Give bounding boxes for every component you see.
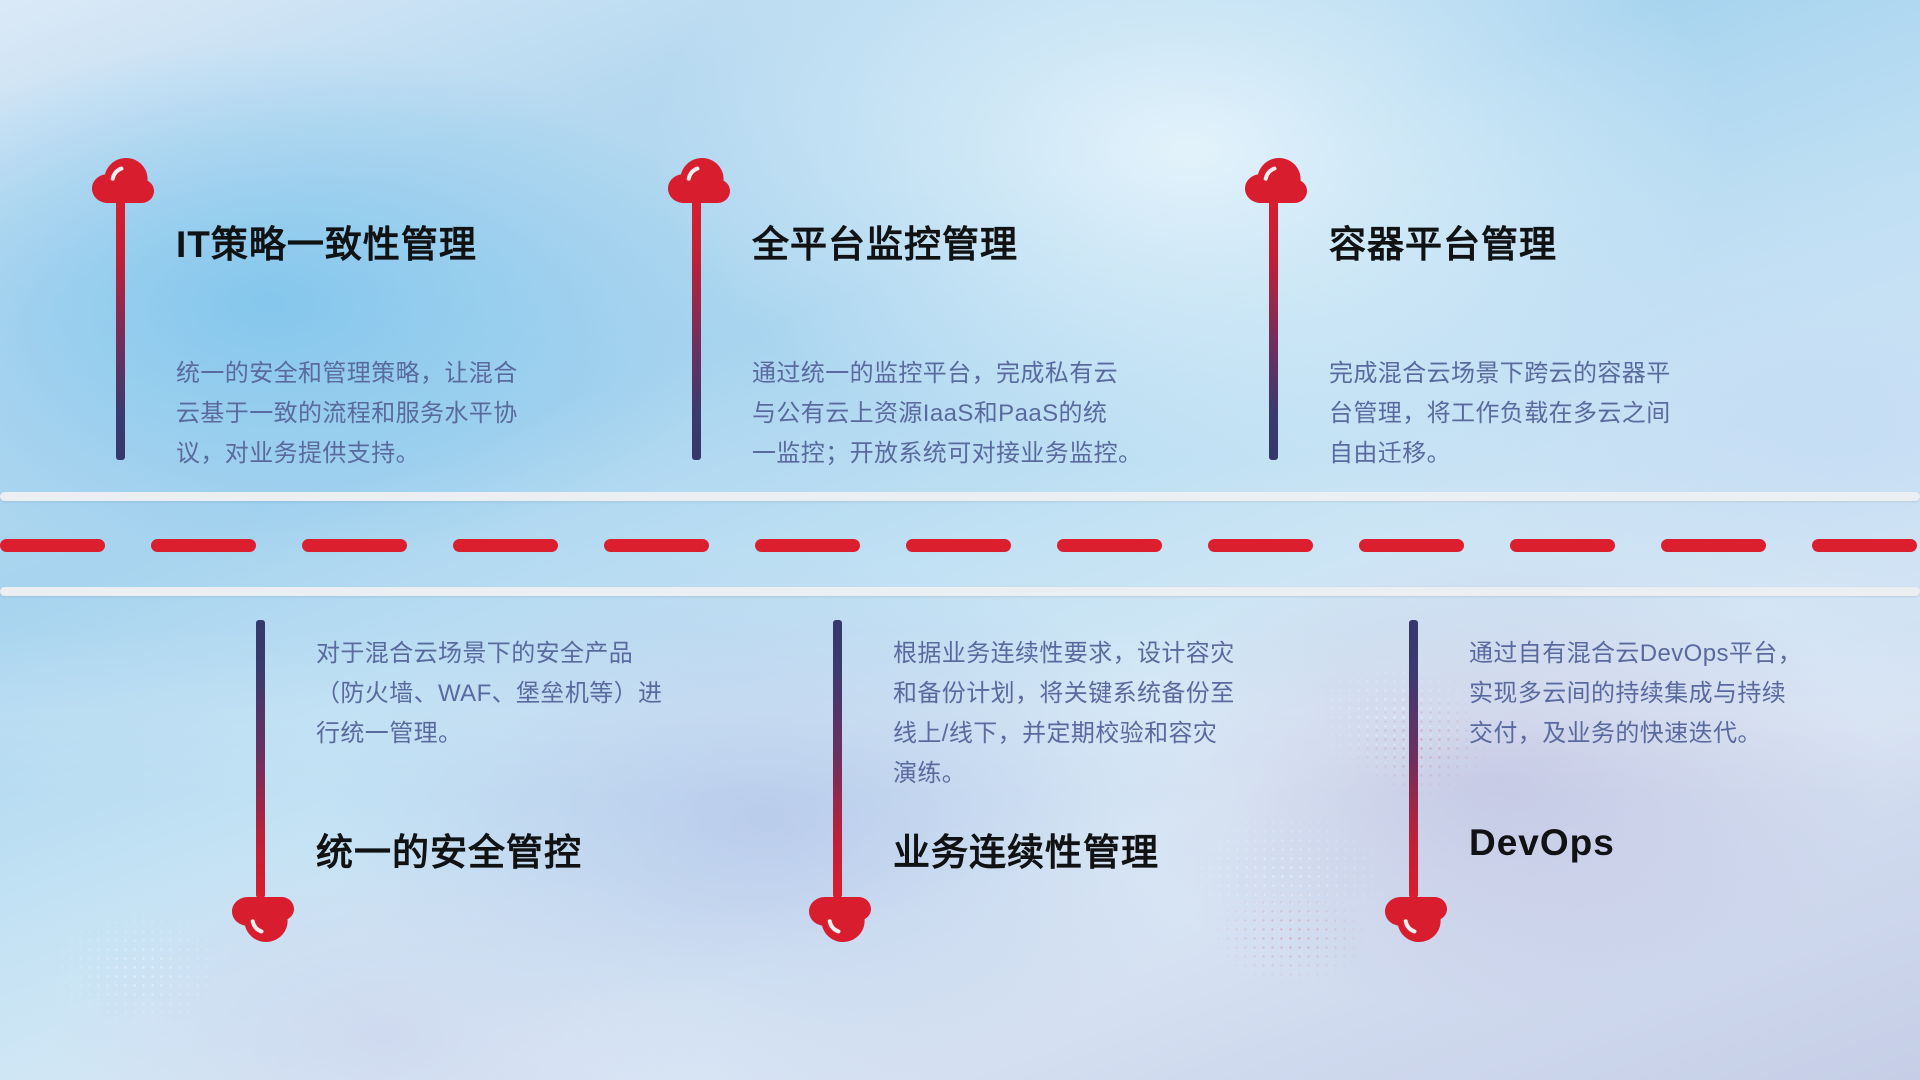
stem-connector [256, 620, 265, 898]
stem-connector [692, 200, 701, 460]
road-dash [1359, 539, 1464, 552]
stem-connector [1409, 620, 1418, 898]
road-divider [0, 492, 1920, 602]
card-body-text: 通过自有混合云DevOps平台， 实现多云间的持续集成与持续 交付，及业务的快速… [1469, 634, 1899, 754]
card-heading: 业务连续性管理 [893, 822, 1159, 876]
road-dash [1661, 539, 1766, 552]
road-dash [151, 539, 256, 552]
road-dash [0, 539, 105, 552]
card-body-text: 完成混合云场景下跨云的容器平 台管理，将工作负载在多云之间 自由迁移。 [1329, 354, 1759, 474]
card-body-text: 对于混合云场景下的安全产品 （防火墙、WAF、堡垒机等）进 行统一管理。 [316, 634, 746, 754]
cloud-icon [232, 896, 294, 942]
road-dash [906, 539, 1011, 552]
cloud-icon [92, 158, 154, 204]
stem-connector [116, 200, 125, 460]
road-dash [755, 539, 860, 552]
stem-connector [1269, 200, 1278, 460]
card-heading: IT策略一致性管理 [176, 214, 477, 268]
card-heading: 全平台监控管理 [752, 214, 1018, 268]
card-heading: DevOps [1469, 822, 1615, 864]
road-dash [1510, 539, 1615, 552]
cloud-icon [1385, 896, 1447, 942]
cloud-icon [668, 158, 730, 204]
road-dash [302, 539, 407, 552]
cloud-icon [1245, 158, 1307, 204]
stem-connector [833, 620, 842, 898]
road-dash-line [0, 539, 1920, 552]
card-body-text: 通过统一的监控平台，完成私有云 与公有云上资源IaaS和PaaS的统 一监控；开… [752, 354, 1192, 474]
road-dash [1057, 539, 1162, 552]
speckle-cluster-red-2 [1205, 880, 1375, 990]
road-dash [453, 539, 558, 552]
card-body-text: 根据业务连续性要求，设计容灾 和备份计划，将关键系统备份至 线上/线下，并定期校… [893, 634, 1323, 794]
card-heading: 统一的安全管控 [316, 822, 582, 876]
road-dash [1208, 539, 1313, 552]
road-dash [604, 539, 709, 552]
road-edge-bottom [0, 587, 1920, 596]
road-dash [1812, 539, 1917, 552]
card-body-text: 统一的安全和管理策略，让混合 云基于一致的流程和服务水平协 议，对业务提供支持。 [176, 354, 606, 474]
cloud-icon [809, 896, 871, 942]
speckle-cluster-left [40, 900, 240, 1040]
road-edge-top [0, 492, 1920, 501]
card-heading: 容器平台管理 [1329, 214, 1557, 268]
